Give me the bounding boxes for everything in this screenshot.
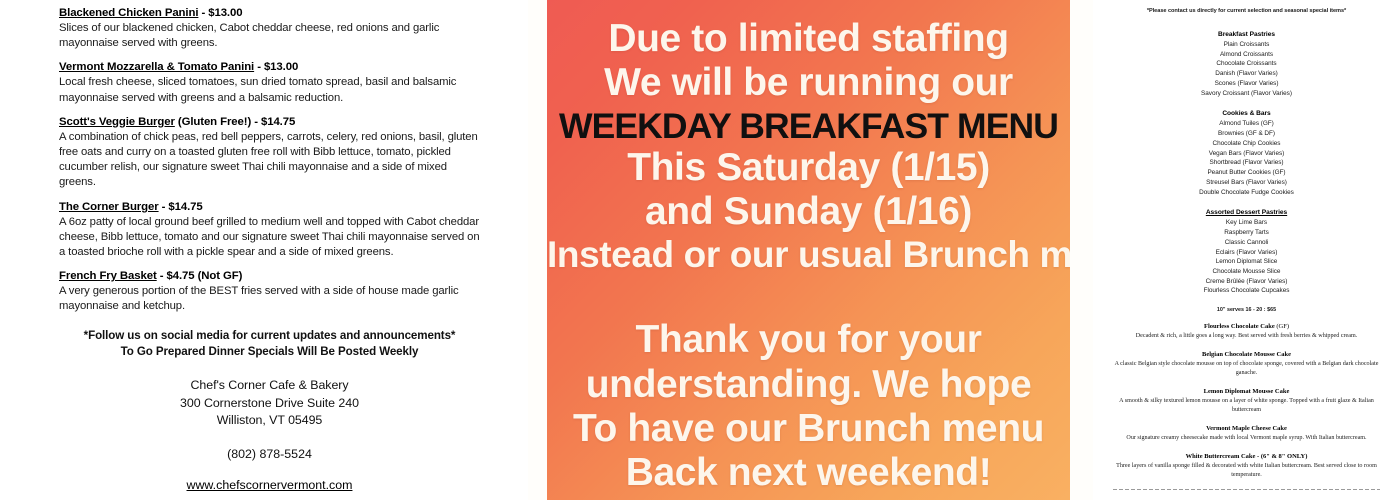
bakery-category-item: Brownies (GF & DF)	[1107, 129, 1386, 139]
menu-item-price: (Gluten Free!) - $14.75	[175, 116, 295, 128]
website-link[interactable]: www.chefscornervermont.com	[187, 478, 353, 492]
menu-item-price: - $13.00	[254, 61, 298, 73]
bakery-category-item: Chocolate Mousse Slice	[1107, 267, 1386, 277]
cake-name-note: (GF)	[1275, 323, 1289, 330]
phone-number[interactable]: (802) 878-5524	[227, 447, 312, 461]
bakery-category-item: Double Chocolate Fudge Cookies	[1107, 188, 1386, 198]
thankyou-line-3: To have our Brunch menu	[547, 407, 1070, 451]
bakery-contact-note: *Please contact us directly for current …	[1107, 8, 1386, 14]
website-block: www.chefscornervermont.com	[59, 478, 480, 492]
menu-item: French Fry Basket - $4.75 (Not GF) A ver…	[59, 269, 480, 314]
phone-block: (802) 878-5524	[59, 447, 480, 461]
section-divider	[1113, 489, 1380, 490]
bakery-category-title: Assorted Dessert Pastries	[1107, 208, 1386, 218]
menu-item-price: - $14.75	[159, 201, 203, 213]
announcement-line-4: This Saturday (1/15)	[547, 146, 1070, 190]
cake-serving-note: 10" serves 16 - 20 : $65	[1107, 307, 1386, 313]
bakery-category-item: Shortbread (Flavor Varies)	[1107, 158, 1386, 168]
flyer-page: Blackened Chicken Panini - $13.00 Slices…	[0, 0, 1400, 500]
lunch-menu-panel: Blackened Chicken Panini - $13.00 Slices…	[0, 0, 528, 500]
menu-item-description: Slices of our blackened chicken, Cabot c…	[59, 21, 480, 51]
cake-entry: Vermont Maple Cheese Cake Our signature …	[1107, 424, 1386, 443]
cake-name: Lemon Diplomat Mousse Cake	[1107, 387, 1386, 397]
menu-item-description: Local fresh cheese, sliced tomatoes, sun…	[59, 75, 480, 105]
bakery-category-item: Creme Brûlée (Flavor Varies)	[1107, 277, 1386, 287]
cake-description: Our signature creamy cheesecake made wit…	[1107, 434, 1386, 443]
cake-entry: Lemon Diplomat Mousse Cake A smooth & si…	[1107, 387, 1386, 415]
social-media-line-1: *Follow us on social media for current u…	[59, 328, 480, 344]
cake-name-text: Flourless Chocolate Cake	[1204, 323, 1275, 330]
menu-item-heading: The Corner Burger - $14.75	[59, 200, 480, 215]
cake-description: A classic Belgian style chocolate mousse…	[1107, 360, 1386, 378]
menu-item-name: The Corner Burger	[59, 201, 159, 213]
cake-entry: White Buttercream Cake - (6" & 8" ONLY) …	[1107, 452, 1386, 480]
thankyou-line-4: Back next weekend!	[547, 451, 1070, 495]
bakery-category-item: Almond Croissants	[1107, 50, 1386, 60]
bakery-category-item: Lemon Diplomat Slice	[1107, 257, 1386, 267]
menu-item-price: - $13.00	[198, 7, 242, 19]
address-line-1: 300 Cornerstone Drive Suite 240	[59, 395, 480, 413]
menu-item: Vermont Mozzarella & Tomato Panini - $13…	[59, 60, 480, 105]
bakery-category-item: Classic Cannoli	[1107, 238, 1386, 248]
bakery-category-item: Streusel Bars (Flavor Varies)	[1107, 178, 1386, 188]
announcement-line-1: Due to limited staffing	[547, 17, 1070, 61]
bakery-category: Breakfast Pastries Plain Croissants Almo…	[1107, 30, 1386, 98]
cake-entry: Flourless Chocolate Cake (GF) Decadent &…	[1107, 322, 1386, 341]
bakery-category-item: Scones (Flavor Varies)	[1107, 79, 1386, 89]
cake-description: Three layers of vanilla sponge filled & …	[1107, 462, 1386, 480]
menu-item-name: Scott's Veggie Burger	[59, 116, 175, 128]
menu-item-price: - $4.75 (Not GF)	[157, 270, 243, 282]
panel-divider-left	[528, 0, 547, 500]
bakery-category-item: Savory Croissant (Flavor Varies)	[1107, 89, 1386, 99]
social-media-notice: *Follow us on social media for current u…	[59, 328, 480, 360]
bakery-category-item: Raspberry Tarts	[1107, 228, 1386, 238]
bakery-category: Cookies & Bars Almond Tuiles (GF) Browni…	[1107, 109, 1386, 197]
announcement-line-6: Instead or our usual Brunch menu.	[547, 234, 1070, 276]
menu-item: Blackened Chicken Panini - $13.00 Slices…	[59, 6, 480, 51]
menu-item-heading: Scott's Veggie Burger (Gluten Free!) - $…	[59, 115, 480, 130]
menu-item-description: A very generous portion of the BEST frie…	[59, 284, 480, 314]
menu-item-name: French Fry Basket	[59, 270, 157, 282]
bakery-category-item: Plain Croissants	[1107, 40, 1386, 50]
thankyou-line-1: Thank you for your	[547, 318, 1070, 362]
address-block: Chef's Corner Cafe & Bakery 300 Cornerst…	[59, 377, 480, 430]
announcement-panel: Due to limited staffing We will be runni…	[547, 0, 1070, 500]
cake-name: Vermont Maple Cheese Cake	[1107, 424, 1386, 434]
menu-item-description: A 6oz patty of local ground beef grilled…	[59, 215, 480, 261]
cake-name: White Buttercream Cake - (6" & 8" ONLY)	[1107, 452, 1386, 462]
business-name: Chef's Corner Cafe & Bakery	[59, 377, 480, 395]
bakery-menu-panel: *Please contact us directly for current …	[1093, 0, 1400, 500]
menu-item: The Corner Burger - $14.75 A 6oz patty o…	[59, 200, 480, 261]
bakery-category: Assorted Dessert Pastries Key Lime Bars …	[1107, 208, 1386, 296]
announcement-line-5: and Sunday (1/16)	[547, 190, 1070, 234]
cake-description: A smooth & silky textured lemon mousse o…	[1107, 397, 1386, 415]
menu-item-heading: Vermont Mozzarella & Tomato Panini - $13…	[59, 60, 480, 75]
cake-name: Belgian Chocolate Mousse Cake	[1107, 350, 1386, 360]
menu-item-name: Vermont Mozzarella & Tomato Panini	[59, 61, 254, 73]
bakery-category-item: Almond Tuiles (GF)	[1107, 119, 1386, 129]
bakery-category-item: Vegan Bars (Flavor Varies)	[1107, 149, 1386, 159]
address-line-2: Williston, VT 05495	[59, 412, 480, 430]
panel-divider-right	[1070, 0, 1093, 500]
announcement-line-3: WEEKDAY BREAKFAST MENU	[547, 106, 1070, 146]
cake-entry: Belgian Chocolate Mousse Cake A classic …	[1107, 350, 1386, 378]
cake-name: Flourless Chocolate Cake (GF)	[1107, 322, 1386, 332]
bakery-category-title: Breakfast Pastries	[1107, 30, 1386, 40]
menu-item-heading: Blackened Chicken Panini - $13.00	[59, 6, 480, 21]
announcement-line-2: We will be running our	[547, 61, 1070, 105]
menu-item-heading: French Fry Basket - $4.75 (Not GF)	[59, 269, 480, 284]
dinner-specials-line: To Go Prepared Dinner Specials Will Be P…	[59, 344, 480, 360]
bakery-category-title: Cookies & Bars	[1107, 109, 1386, 119]
bakery-category-item: Peanut Butter Cookies (GF)	[1107, 168, 1386, 178]
cake-description: Decadent & rich, a little goes a long wa…	[1107, 332, 1386, 341]
menu-item-name: Blackened Chicken Panini	[59, 7, 198, 19]
menu-item: Scott's Veggie Burger (Gluten Free!) - $…	[59, 115, 480, 191]
bakery-category-item: Key Lime Bars	[1107, 218, 1386, 228]
bakery-category-item: Eclairs (Flavor Varies)	[1107, 248, 1386, 258]
bakery-category-item: Chocolate Chip Cookies	[1107, 139, 1386, 149]
bakery-category-item: Danish (Flavor Varies)	[1107, 69, 1386, 79]
thankyou-line-2: understanding. We hope	[547, 363, 1070, 407]
bakery-category-item: Chocolate Croissants	[1107, 59, 1386, 69]
bakery-category-item: Flourless Chocolate Cupcakes	[1107, 286, 1386, 296]
menu-item-description: A combination of chick peas, red bell pe…	[59, 130, 480, 191]
